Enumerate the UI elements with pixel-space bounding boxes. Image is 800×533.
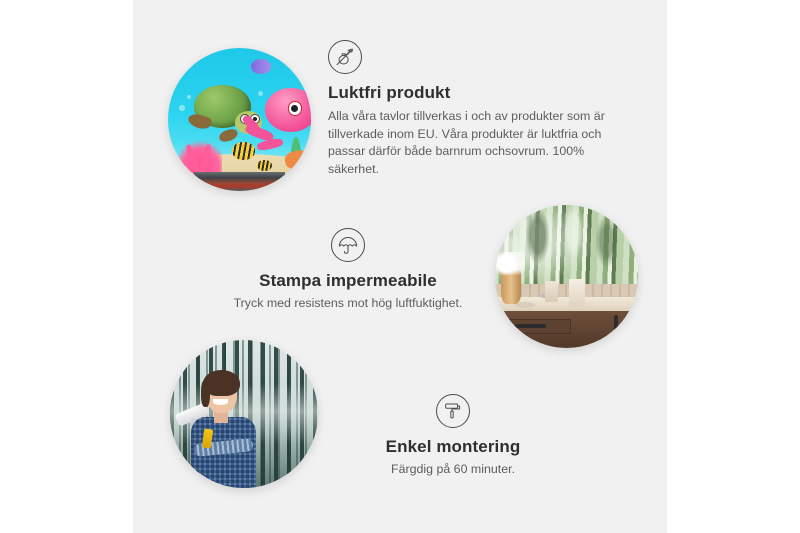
bathroom-jar (545, 281, 558, 302)
underwater-bottom-photo-strip (194, 172, 286, 191)
vanity-door-handle (614, 315, 618, 341)
underwater-cartoon-circle-image (168, 48, 311, 191)
vanity-drawer-handle (515, 324, 546, 328)
feature-odourless-title: Luktfri produkt (328, 83, 623, 103)
umbrella-icon (331, 228, 365, 262)
purple-fish (251, 59, 271, 73)
bathroom-interior-circle-image (495, 205, 638, 348)
underwater-pink-coral (179, 137, 222, 174)
woman-paint-roller-circle-image (170, 340, 318, 488)
soap-dish (515, 302, 535, 308)
feature-assembly: Enkel montering Färgdig på 60 minuter. (308, 394, 598, 476)
yellow-striped-fish-large (232, 142, 255, 159)
feature-waterproof-title: Stampa impermeabile (193, 271, 503, 291)
octopus-eye (288, 101, 303, 116)
feature-waterproof-body: Tryck med resistens mot hög luftfuktighe… (193, 296, 503, 310)
woman-hair-side (201, 380, 210, 407)
feature-odourless: Luktfri produkt Alla våra tavlor tillver… (328, 40, 623, 178)
soap-dispenser (569, 279, 585, 306)
bubble-3 (258, 91, 263, 96)
feature-assembly-body: Färgdig på 60 minuter. (308, 462, 598, 476)
woman-smile (213, 399, 228, 405)
paint-roller-icon (436, 394, 470, 428)
product-feature-infographic: Luktfri produkt Alla våra tavlor tillver… (0, 0, 800, 533)
content-panel: Luktfri produkt Alla våra tavlor tillver… (133, 0, 667, 533)
feature-assembly-title: Enkel montering (308, 437, 598, 457)
feature-waterproof: Stampa impermeabile Tryck med resistens … (193, 228, 503, 310)
feature-odourless-body: Alla våra tavlor tillverkas i och av pro… (328, 108, 611, 178)
no-odour-spray-bottle-icon (328, 40, 362, 74)
